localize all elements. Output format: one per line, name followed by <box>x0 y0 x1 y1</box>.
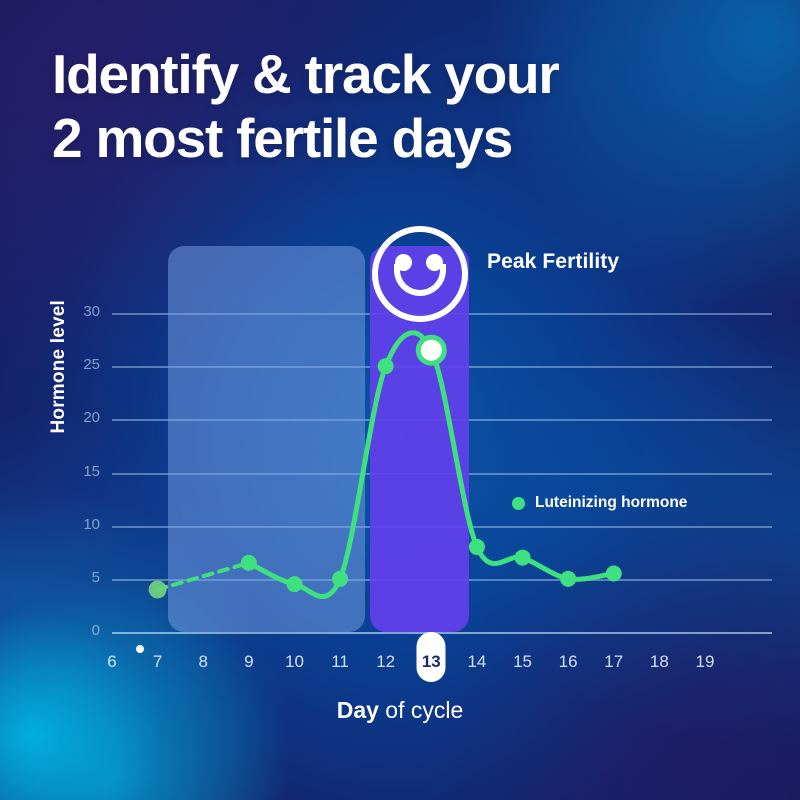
x-axis-ticks: 678910111213141516171819 <box>112 652 772 686</box>
page-title: Identify & track your 2 most fertile day… <box>52 42 559 171</box>
x-tick-6[interactable]: 6 <box>107 652 116 672</box>
series-line <box>249 333 614 597</box>
headline-line-2: 2 most fertile days <box>52 106 559 170</box>
x-tick-18[interactable]: 18 <box>650 652 669 672</box>
x-tick-14[interactable]: 14 <box>467 652 486 672</box>
x-tick-19[interactable]: 19 <box>696 652 715 672</box>
legend-label: Luteinizing hormone <box>535 494 687 512</box>
x-tick-10[interactable]: 10 <box>285 652 304 672</box>
x-axis-label: Day of cycle <box>0 697 800 724</box>
data-point-day-16[interactable] <box>560 571 576 587</box>
x-tick-16[interactable]: 16 <box>559 652 578 672</box>
x-tick-17[interactable]: 17 <box>604 652 623 672</box>
x-tick-7[interactable]: 7 <box>153 652 162 672</box>
data-point-day-12[interactable] <box>378 358 394 374</box>
x-tick-15[interactable]: 15 <box>513 652 532 672</box>
data-point-day-17[interactable] <box>606 566 622 582</box>
x-tick-12[interactable]: 12 <box>376 652 395 672</box>
green-dot-icon <box>512 497 525 510</box>
x-axis-label-rest: of cycle <box>379 697 463 723</box>
data-point-day-14[interactable] <box>469 539 485 555</box>
legend: Luteinizing hormone <box>512 494 687 512</box>
x-tick-13[interactable]: 13 <box>422 652 441 672</box>
data-point-day-7[interactable] <box>149 580 167 598</box>
series-dashed-segment <box>158 563 249 590</box>
data-point-day-9[interactable] <box>241 555 257 571</box>
headline-line-1: Identify & track your <box>52 42 559 106</box>
peak-point-marker[interactable] <box>418 337 444 363</box>
data-point-day-11[interactable] <box>332 571 348 587</box>
x-tick-11[interactable]: 11 <box>331 652 349 672</box>
x-axis-label-bold: Day <box>337 697 379 723</box>
x-tick-9[interactable]: 9 <box>244 652 253 672</box>
data-point-day-10[interactable] <box>286 576 302 592</box>
x-tick-8[interactable]: 8 <box>198 652 207 672</box>
data-point-day-15[interactable] <box>515 550 531 566</box>
